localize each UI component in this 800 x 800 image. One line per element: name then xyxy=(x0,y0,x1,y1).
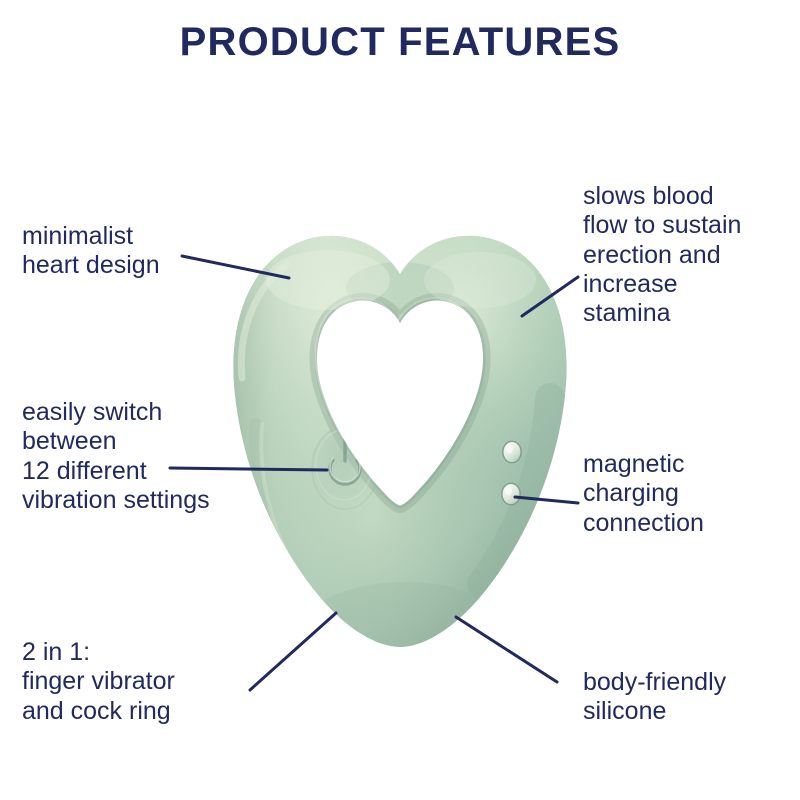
callout-blood-flow: slows blood flow to sustain erection and… xyxy=(583,182,793,328)
callout-heart-design: minimalist heart design xyxy=(22,222,237,281)
callout-body-friendly-silicone: body-friendly silicone xyxy=(583,668,795,727)
product-features-infographic: PRODUCT FEATURES xyxy=(0,0,800,800)
page-title: PRODUCT FEATURES xyxy=(0,20,800,65)
callout-vibration-settings: easily switch between 12 different vibra… xyxy=(22,398,272,515)
charging-contact-lower xyxy=(501,483,521,506)
callout-magnetic-charging: magnetic charging connection xyxy=(583,450,793,538)
callout-two-in-one: 2 in 1: finger vibrator and cock ring xyxy=(22,638,277,726)
product-image xyxy=(228,228,573,653)
charging-contact-upper xyxy=(502,441,522,464)
product-illustration xyxy=(228,228,573,653)
